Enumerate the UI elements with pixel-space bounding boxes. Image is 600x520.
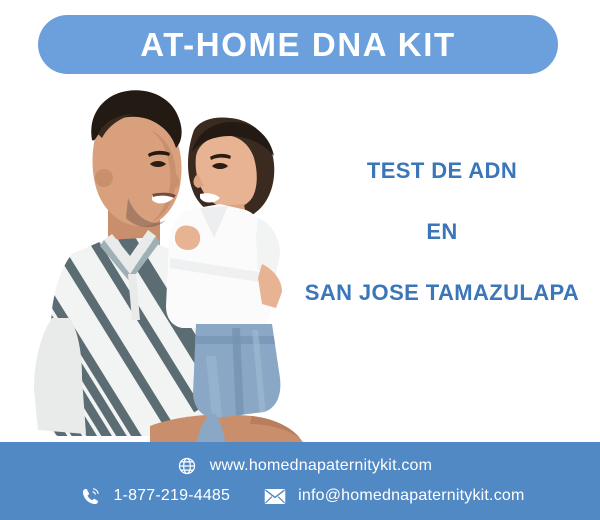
page-title: AT-HOME DNA KIT (140, 28, 455, 61)
footer-contact-band: www.homednapaternitykit.com 1-877-219-44… (0, 442, 600, 520)
headline-block: TEST DE ADN EN SAN JOSE TAMAZULAPA (292, 160, 592, 304)
website-text: www.homednapaternitykit.com (210, 458, 432, 474)
envelope-icon (264, 485, 286, 507)
contact-phone[interactable]: 1-877-219-4485 (79, 485, 230, 507)
globe-icon (176, 455, 198, 477)
father-and-child-photo (0, 78, 330, 453)
header-banner: AT-HOME DNA KIT (38, 15, 558, 74)
footer-row-phone-email: 1-877-219-4485 info@homednapaternitykit.… (0, 481, 600, 511)
headline-line-service: TEST DE ADN (292, 160, 592, 182)
contact-website[interactable]: www.homednapaternitykit.com (176, 455, 432, 477)
headline-line-location: SAN JOSE TAMAZULAPA (292, 282, 592, 304)
headline-line-connector: EN (292, 221, 592, 243)
poster-canvas: AT-HOME DNA KIT (0, 0, 600, 520)
contact-email[interactable]: info@homednapaternitykit.com (264, 485, 524, 507)
phone-icon (79, 485, 101, 507)
footer-row-website: www.homednapaternitykit.com (0, 451, 600, 481)
phone-text: 1-877-219-4485 (113, 488, 230, 504)
photo-illustration (0, 78, 330, 453)
email-text: info@homednapaternitykit.com (298, 488, 524, 504)
